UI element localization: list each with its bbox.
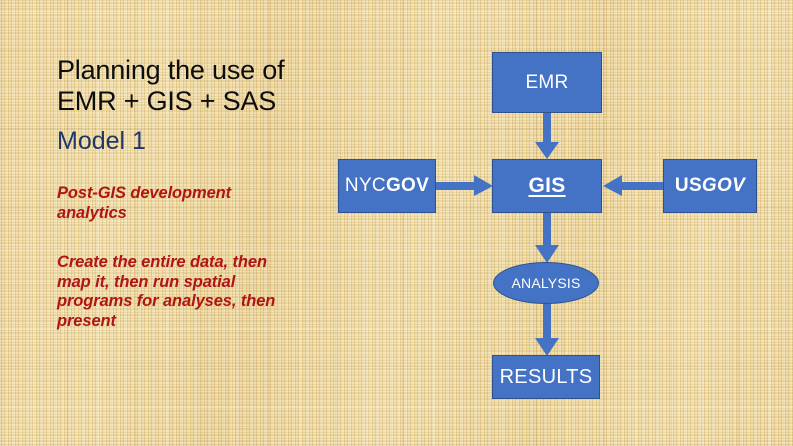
node-nyc-gov-label-plain: NYC — [345, 175, 386, 197]
arrow-nyc-to-gis — [436, 175, 494, 197]
node-analysis[interactable]: ANALYSIS — [493, 262, 599, 304]
arrow-us-to-gis — [602, 175, 664, 197]
node-gis[interactable]: GIS — [492, 159, 602, 213]
node-us-gov-label-bold-italic: GOV — [702, 175, 745, 197]
arrow-emr-to-gis — [534, 112, 560, 160]
arrow-analysis-to-results — [534, 295, 560, 357]
node-emr[interactable]: EMR — [492, 52, 602, 113]
node-us-gov-label-bold: US — [675, 175, 702, 197]
node-nyc-gov[interactable]: NYC GOV — [338, 159, 436, 213]
flowchart-diagram: EMR NYC GOV GIS US GOV ANALYSIS RESULTS — [0, 0, 793, 446]
slide-canvas: Planning the use of EMR + GIS + SAS Mode… — [0, 0, 793, 446]
node-us-gov[interactable]: US GOV — [663, 159, 757, 213]
node-emr-label: EMR — [525, 72, 568, 94]
node-results-label: RESULTS — [500, 366, 593, 389]
arrow-gis-to-analysis — [534, 212, 560, 264]
node-analysis-label: ANALYSIS — [511, 275, 580, 291]
node-results[interactable]: RESULTS — [492, 355, 600, 399]
node-gis-label: GIS — [528, 174, 565, 198]
node-nyc-gov-label-bold: GOV — [386, 175, 429, 197]
